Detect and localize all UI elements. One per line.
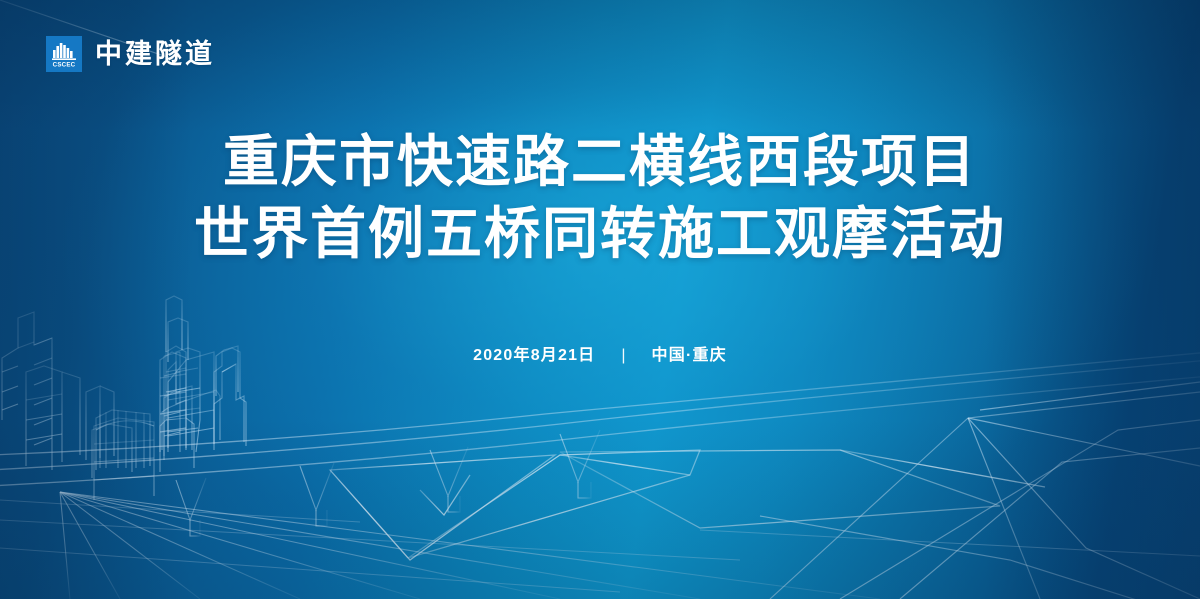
event-meta: 2020年8月21日 | 中国·重庆: [0, 348, 1200, 364]
meta-separator: |: [621, 348, 625, 364]
cscec-logo-icon: CSCEC: [46, 36, 82, 72]
brand-logo-lockup: CSCEC 中建隧道: [46, 36, 215, 72]
title-line-2: 世界首例五桥同转施工观摩活动: [0, 198, 1200, 270]
svg-text:CSCEC: CSCEC: [53, 62, 76, 69]
title-line-1: 重庆市快速路二横线西段项目: [0, 126, 1200, 198]
background-vignette: [0, 0, 1200, 599]
event-backdrop: CSCEC 中建隧道 重庆市快速路二横线西段项目 世界首例五桥同转施工观摩活动 …: [0, 0, 1200, 599]
event-title: 重庆市快速路二横线西段项目 世界首例五桥同转施工观摩活动: [0, 126, 1200, 270]
event-date: 2020年8月21日: [473, 348, 595, 364]
event-location: 中国·重庆: [652, 348, 727, 364]
brand-name: 中建隧道: [95, 41, 215, 68]
